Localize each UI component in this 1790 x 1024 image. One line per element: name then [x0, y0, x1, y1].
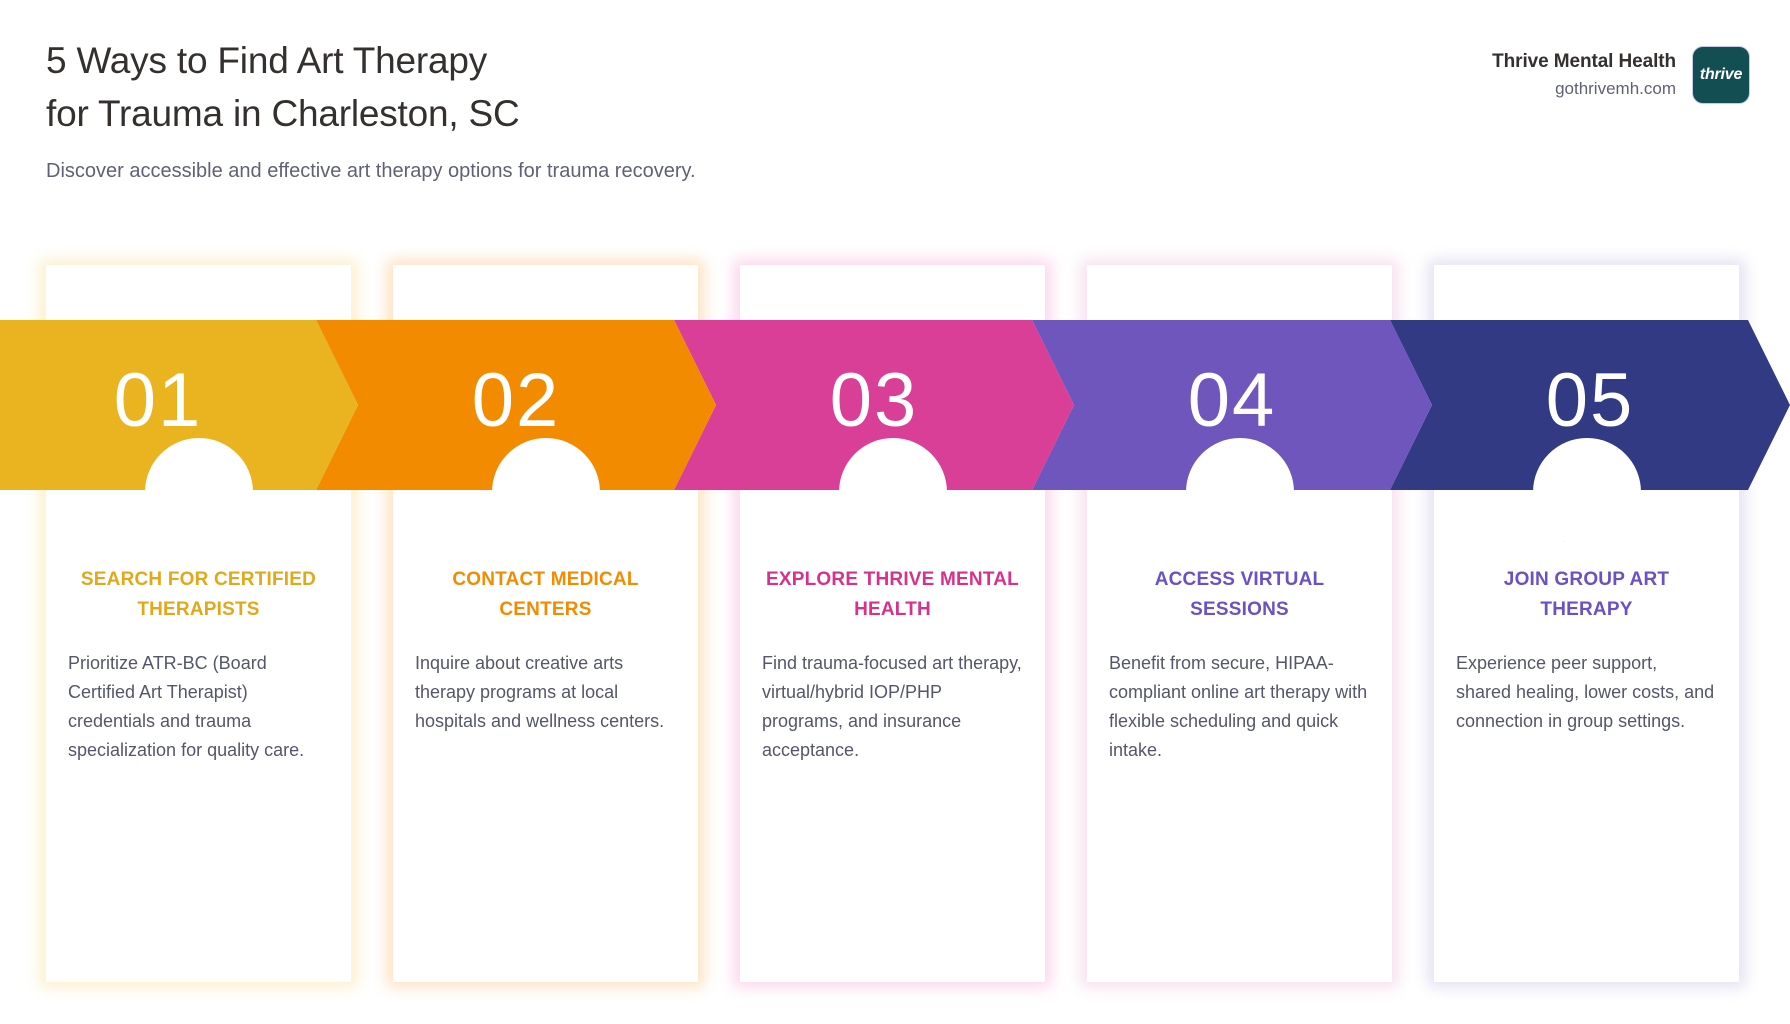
brand-block: Thrive Mental Health gothrivemh.com thri…: [1492, 46, 1750, 104]
brand-logo: thrive: [1692, 46, 1750, 104]
title-block: 5 Ways to Find Art Therapy for Trauma in…: [46, 34, 806, 187]
card-description: Experience peer support, shared healing,…: [1456, 649, 1717, 736]
card-arch-notch: [1186, 438, 1294, 546]
card-heading: ACCESS VIRTUAL SESSIONS: [1109, 565, 1370, 625]
card-description: Prioritize ATR-BC (Board Certified Art T…: [68, 649, 329, 765]
page-title-line-2: for Trauma in Charleston, SC: [46, 87, 806, 140]
page-title: 5 Ways to Find Art Therapy for Trauma in…: [46, 34, 806, 140]
card-description: Find trauma-focused art therapy, virtual…: [762, 649, 1023, 765]
card-arch-notch: [839, 438, 947, 546]
card-heading: SEARCH FOR CERTIFIED THERAPISTS: [68, 565, 329, 625]
header: 5 Ways to Find Art Therapy for Trauma in…: [0, 0, 1790, 250]
card-arch-notch: [492, 438, 600, 546]
page-subtitle: Discover accessible and effective art th…: [46, 156, 706, 187]
brand-text: Thrive Mental Health gothrivemh.com: [1492, 50, 1676, 99]
card-arch-notch: [145, 438, 253, 546]
card-heading: EXPLORE THRIVE MENTAL HEALTH: [762, 565, 1023, 625]
card-description: Inquire about creative arts therapy prog…: [415, 649, 676, 736]
step-banner: 0102030405: [0, 320, 1790, 490]
card-heading: JOIN GROUP ART THERAPY: [1456, 565, 1717, 625]
card-heading: CONTACT MEDICAL CENTERS: [415, 565, 676, 625]
infographic-page: 5 Ways to Find Art Therapy for Trauma in…: [0, 0, 1790, 1024]
card-arch-notch: [1533, 438, 1641, 546]
card-description: Benefit from secure, HIPAA-compliant onl…: [1109, 649, 1370, 765]
page-title-line-1: 5 Ways to Find Art Therapy: [46, 34, 806, 87]
brand-logo-text: thrive: [1700, 66, 1742, 84]
brand-name: Thrive Mental Health: [1492, 50, 1676, 74]
step-number: 03: [830, 363, 919, 439]
step-number: 02: [472, 363, 561, 439]
step-number: 04: [1188, 363, 1277, 439]
brand-url: gothrivemh.com: [1492, 78, 1676, 100]
step-number: 05: [1546, 363, 1635, 439]
step-number: 01: [114, 363, 203, 439]
